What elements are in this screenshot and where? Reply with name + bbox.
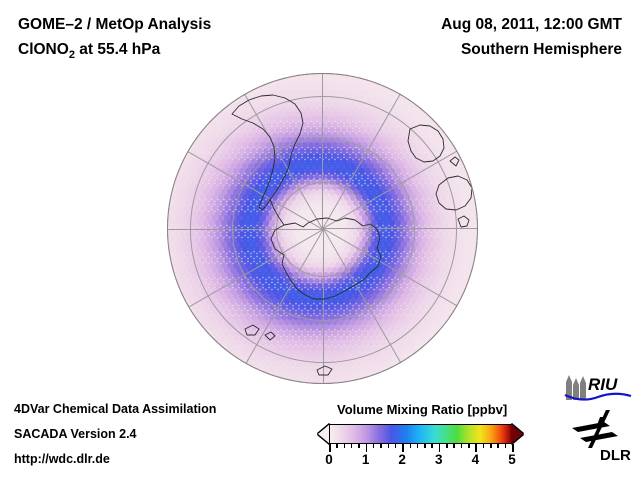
colorbar-minor-tick <box>424 444 426 448</box>
coastlines <box>167 73 478 384</box>
colorbar-minor-tick <box>410 444 412 448</box>
colorbar-minor-tick <box>497 444 499 448</box>
colorbar-minor-tick <box>446 444 448 448</box>
colorbar-minor-tick <box>453 444 455 448</box>
footer-method: 4DVar Chemical Data Assimilation <box>14 402 216 416</box>
altitude-text: at 55.4 hPa <box>75 41 160 58</box>
dlr-logo-text: DLR <box>600 447 631 464</box>
colorbar-tick-label: 0 <box>325 452 333 467</box>
date-label: Aug 08, 2011, 12:00 GMT <box>441 16 622 34</box>
colorbar-ticks <box>329 444 512 452</box>
colorbar-minor-tick <box>431 444 433 448</box>
colorbar-major-tick <box>402 444 404 452</box>
colorbar-tick-label: 1 <box>362 452 370 467</box>
colorbar-major-tick <box>475 444 477 452</box>
footer-version: SACADA Version 2.4 <box>14 427 137 441</box>
colorbar-tick-labels: 012345 <box>329 452 512 470</box>
colorbar-major-tick <box>512 444 514 452</box>
colorbar-minor-tick <box>373 444 375 448</box>
footer-url[interactable]: http://wdc.dlr.de <box>14 452 110 466</box>
colorbar-tick-label: 2 <box>398 452 406 467</box>
colorbar-tick-label: 4 <box>472 452 480 467</box>
polar-map <box>167 73 478 384</box>
colorbar-title: Volume Mixing Ratio [ppbv] <box>337 402 507 417</box>
colorbar-minor-tick <box>351 444 353 448</box>
colorbar-minor-tick <box>336 444 338 448</box>
colorbar-tick-label: 3 <box>435 452 443 467</box>
riu-logo-text: RIU <box>588 375 618 394</box>
colorbar-minor-tick <box>344 444 346 448</box>
colorbar-minor-tick <box>395 444 397 448</box>
colorbar-minor-tick <box>505 444 507 448</box>
page-title: GOME–2 / MetOp Analysis <box>18 16 211 34</box>
colorbar-minor-tick <box>490 444 492 448</box>
colorbar-major-tick <box>329 444 331 452</box>
colorbar-major-tick <box>439 444 441 452</box>
colorbar-minor-tick <box>388 444 390 448</box>
dlr-logo: DLR <box>570 408 634 464</box>
colorbar-minor-tick <box>358 444 360 448</box>
colorbar-minor-tick <box>417 444 419 448</box>
colorbar-over-arrow <box>511 424 523 444</box>
colorbar-minor-tick <box>483 444 485 448</box>
colorbar-tick-label: 5 <box>508 452 516 467</box>
riu-logo: RIU <box>562 372 634 402</box>
colorbar-minor-tick <box>380 444 382 448</box>
species-altitude-label: ClONO2 at 55.4 hPa <box>18 41 160 61</box>
globe-disc <box>167 73 478 384</box>
hemisphere-label: Southern Hemisphere <box>461 41 622 59</box>
colorbar-major-tick <box>366 444 368 452</box>
colorbar <box>318 424 523 444</box>
colorbar-minor-tick <box>468 444 470 448</box>
colorbar-gradient <box>329 424 512 444</box>
colorbar-minor-tick <box>461 444 463 448</box>
species-name: ClONO <box>18 41 69 58</box>
